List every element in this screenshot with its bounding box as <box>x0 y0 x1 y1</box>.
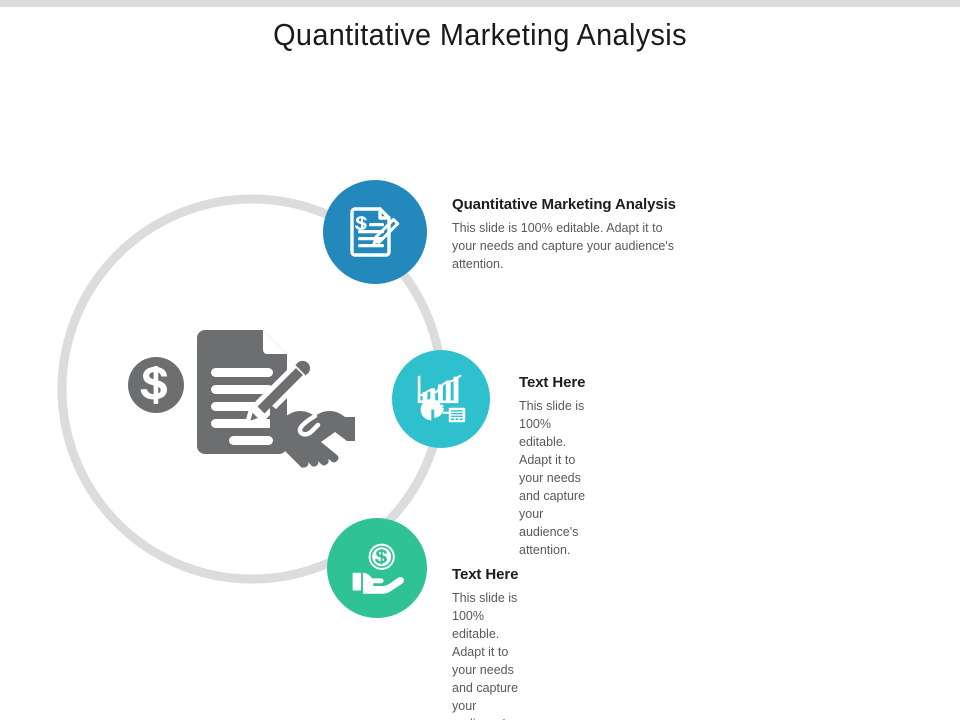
dollar-glyph <box>355 216 367 230</box>
node-2-heading: Text Here <box>519 374 585 391</box>
hand-glyph <box>353 573 404 594</box>
slide-canvas: Quantitative Marketing Analysis <box>0 0 960 720</box>
coin-glyph <box>369 544 395 570</box>
analytics-chart-report-icon <box>410 368 472 430</box>
invoice-document-pen-icon <box>343 200 407 264</box>
node-1-icon-circle[interactable] <box>323 180 427 284</box>
node-3-text: Text Here This slide is 100% editable. A… <box>452 566 518 720</box>
node-1-heading: Quantitative Marketing Analysis <box>452 196 676 213</box>
center-contract-icon <box>125 322 390 472</box>
hand-holding-dollar-coin-icon <box>347 538 407 598</box>
node-2-icon-circle[interactable] <box>392 350 490 448</box>
page-title: Quantitative Marketing Analysis <box>34 17 927 53</box>
top-accent-band <box>0 0 960 7</box>
node-1-text: Quantitative Marketing Analysis This sli… <box>452 196 676 273</box>
node-2-text: Text Here This slide is 100% editable. A… <box>519 374 585 559</box>
node-3-heading: Text Here <box>452 566 518 583</box>
node-1-body: This slide is 100% editable. Adapt it to… <box>452 219 676 273</box>
node-3-body: This slide is 100% editable. Adapt it to… <box>452 589 518 720</box>
node-3-icon-circle[interactable] <box>327 518 427 618</box>
node-2-body: This slide is 100% editable. Adapt it to… <box>519 397 585 559</box>
dollar-coin-icon <box>128 357 184 413</box>
